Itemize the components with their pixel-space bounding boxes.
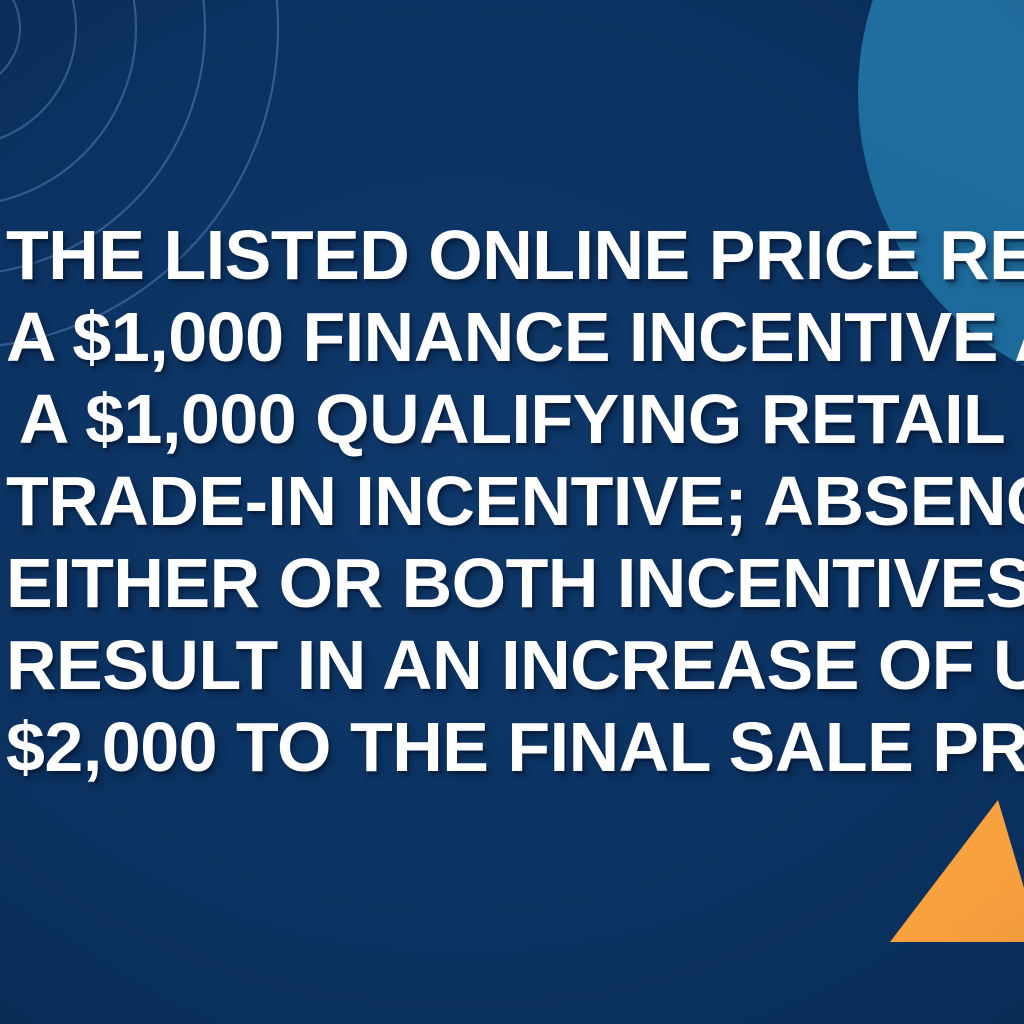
headline-line-1: THE LISTED ONLINE PRICE REFLECTS <box>6 214 1018 296</box>
headline-line-3: A $1,000 QUALIFYING RETAIL <box>6 378 1018 460</box>
headline-line-2: A $1,000 FINANCE INCENTIVE AND <box>6 296 1018 378</box>
headline-text-block: THE LISTED ONLINE PRICE REFLECTS A $1,00… <box>0 214 1024 788</box>
headline-line-6: RESULT IN AN INCREASE OF UP TO <box>6 624 1018 706</box>
headline-line-7: $2,000 TO THE FINAL SALE PRICE. <box>6 706 1018 788</box>
promo-graphic-canvas: THE LISTED ONLINE PRICE REFLECTS A $1,00… <box>0 0 1024 1024</box>
headline-line-5: EITHER OR BOTH INCENTIVES WILL <box>6 542 1018 624</box>
bottom-right-triangle-decoration <box>890 800 1024 942</box>
headline-line-4: TRADE-IN INCENTIVE; ABSENCE OF <box>6 460 1018 542</box>
